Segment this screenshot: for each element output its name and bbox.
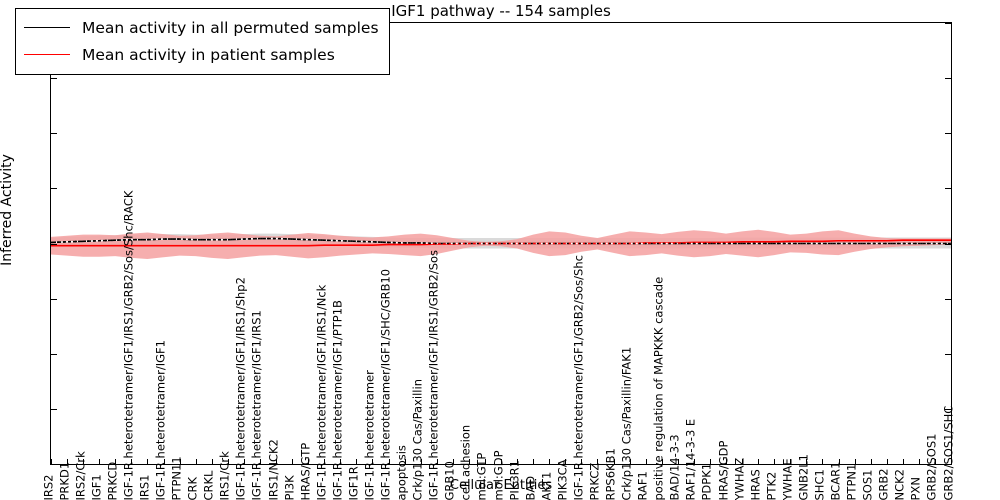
x-axis-tick xyxy=(147,459,148,464)
x-axis-tick-label: IGF-1R heterotetramer/IGF1/IRS1/Shp2 xyxy=(236,277,248,500)
x-axis-tick xyxy=(549,459,550,464)
x-axis-tick-label: IGF-1R heterotetramer/IGF1/PTP1B xyxy=(332,300,344,500)
plot-area xyxy=(50,22,952,465)
x-axis-tick-label: IGF-1R heterotetramer/IGF1/IRS1/GRB2/Sos… xyxy=(123,190,135,500)
x-axis-tick-label: IGF-1R heterotetramer/IGF1 xyxy=(156,340,168,500)
x-axis-tick xyxy=(646,459,647,464)
legend-swatch-permuted-icon xyxy=(24,27,70,28)
y-axis-tick xyxy=(51,354,57,355)
y-axis-tick xyxy=(51,133,57,134)
x-axis-tick-label: IGF-1R heterotetramer/IGF1/SHC/GRB10 xyxy=(381,268,393,500)
legend-item: Mean activity in all permuted samples xyxy=(24,14,379,41)
y-axis-label: Inferred Activity xyxy=(0,0,15,435)
x-axis-tick xyxy=(919,459,920,464)
x-axis-label: Cellular Entities xyxy=(50,478,952,493)
chart-root: IGF1 pathway -- 154 samples Inferred Act… xyxy=(0,0,1000,500)
y-axis-tick xyxy=(51,299,57,300)
y-axis-tick xyxy=(945,23,951,24)
y-axis-tick xyxy=(51,409,57,410)
x-axis-tick xyxy=(758,459,759,464)
x-axis-tick xyxy=(903,459,904,464)
legend-label-patient: Mean activity in patient samples xyxy=(82,46,335,64)
legend: Mean activity in all permuted samples Me… xyxy=(15,8,390,75)
y-axis-tick xyxy=(945,78,951,79)
y-axis-tick xyxy=(945,299,951,300)
y-axis-tick xyxy=(51,244,57,245)
y-axis-tick xyxy=(945,133,951,134)
x-axis-tick-label: IGF-1R heterotetramer/IGF1/GRB2/Sos/Shc xyxy=(573,255,585,500)
legend-swatch-patient-icon xyxy=(24,54,70,55)
x-axis-tick-label: IGF-1R heterotetramer/IGF1/IRS1/Nck xyxy=(316,284,328,500)
x-axis-tick-label: IGF-1R heterotetramer/IGF1/IRS1 xyxy=(252,310,264,500)
x-axis-tick xyxy=(356,459,357,464)
y-axis-tick xyxy=(945,244,951,245)
x-axis-tick xyxy=(292,459,293,464)
plot-svg xyxy=(51,23,951,464)
x-axis-tick xyxy=(212,459,213,464)
x-axis-tick xyxy=(774,459,775,464)
legend-label-permuted: Mean activity in all permuted samples xyxy=(82,19,379,37)
x-axis-tick xyxy=(871,459,872,464)
y-axis-tick xyxy=(945,354,951,355)
x-axis-tick-label: Crk/p130 Cas/Paxillin/FAK1 xyxy=(622,346,634,500)
x-axis-tick-label: positive regulation of MAPKKK cascade xyxy=(654,276,666,500)
x-axis-tick xyxy=(99,459,100,464)
y-axis-tick xyxy=(51,78,57,79)
y-axis-tick xyxy=(51,188,57,189)
x-axis-tick xyxy=(533,459,534,464)
x-axis-tick xyxy=(196,459,197,464)
x-axis-tick xyxy=(887,459,888,464)
plot-clip xyxy=(51,23,951,464)
y-axis-tick xyxy=(945,188,951,189)
legend-item: Mean activity in patient samples xyxy=(24,41,379,68)
x-axis-tick-label: GNB2L1 xyxy=(798,454,810,500)
x-axis-tick-label: IGF-1R heterotetramer/IGF1/IRS1/GRB2/Sos xyxy=(429,249,441,500)
x-axis-tick xyxy=(822,459,823,464)
x-axis-tick xyxy=(51,459,52,464)
